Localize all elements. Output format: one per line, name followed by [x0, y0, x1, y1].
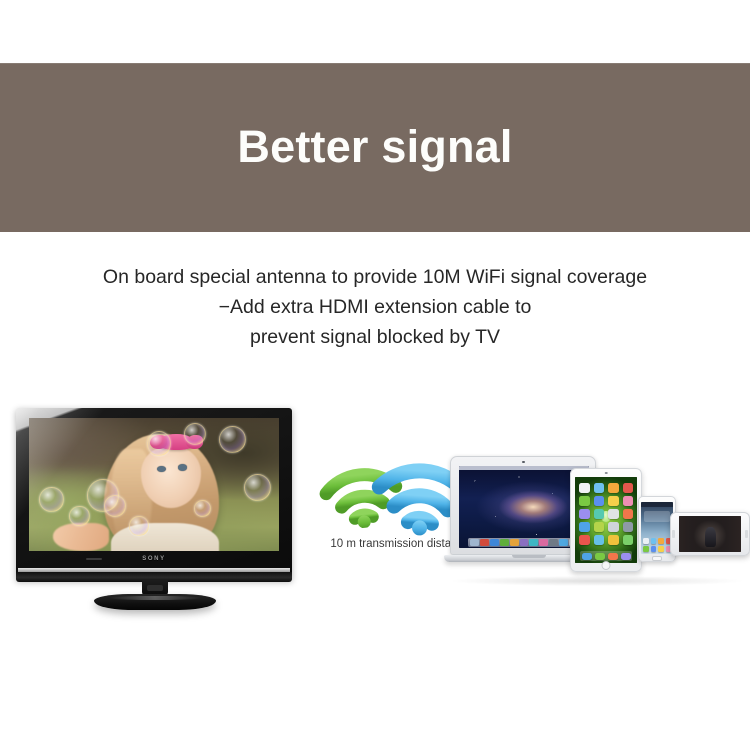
app-icon	[594, 509, 605, 519]
app-icon	[582, 553, 592, 560]
app-icon	[470, 539, 479, 546]
app-icon	[623, 522, 634, 532]
phone-clock-widget	[644, 511, 670, 521]
description-line-2: −Add extra HDMI extension cable to	[0, 292, 750, 322]
tv-screen	[29, 418, 279, 551]
app-icon	[490, 539, 499, 546]
tablet-camera-icon	[605, 472, 608, 475]
tv-bezel-bottom: SONY	[29, 553, 279, 565]
tv-brand-logo: SONY	[142, 556, 165, 562]
page-title: Better signal	[237, 124, 512, 169]
device-cluster	[442, 450, 742, 590]
app-icon	[608, 535, 619, 545]
laptop-camera-icon	[522, 461, 525, 464]
app-icon	[579, 496, 590, 506]
phone-home-button[interactable]	[652, 556, 662, 561]
tv-stand-highlight	[108, 596, 202, 600]
app-icon	[623, 483, 634, 493]
banner: Better signal	[0, 63, 750, 232]
app-icon	[594, 483, 605, 493]
app-icon	[529, 539, 538, 546]
device-shadow	[452, 576, 742, 586]
app-icon	[608, 483, 619, 493]
app-icon	[595, 553, 605, 560]
phone-app-grid	[643, 538, 671, 552]
laptop-latch-notch	[512, 555, 546, 558]
phone-landscape-device	[670, 512, 750, 556]
phone-side-button-right[interactable]	[745, 530, 748, 538]
app-icon	[510, 539, 519, 546]
app-icon	[539, 539, 548, 546]
app-icon	[658, 538, 664, 544]
laptop-dock	[468, 538, 580, 547]
app-icon	[608, 522, 619, 532]
app-icon	[594, 496, 605, 506]
app-icon	[651, 538, 657, 544]
phone-status-bar	[641, 502, 673, 507]
app-icon	[608, 496, 619, 506]
phone-portrait-screen	[641, 502, 673, 554]
product-feature-image: Better signal On board special antenna t…	[0, 0, 750, 750]
phone-side-button-left[interactable]	[672, 530, 675, 538]
phone-video-subject	[705, 527, 716, 547]
app-icon	[520, 539, 529, 546]
app-icon	[608, 553, 618, 560]
app-icon	[579, 535, 590, 545]
app-icon	[579, 522, 590, 532]
app-icon	[500, 539, 509, 546]
app-icon	[623, 509, 634, 519]
app-icon	[658, 546, 664, 552]
tablet-device	[570, 468, 642, 572]
tablet-dock	[580, 551, 632, 561]
app-icon	[549, 539, 558, 546]
tablet-screen	[575, 477, 637, 563]
app-icon	[623, 496, 634, 506]
tablet-app-grid	[579, 483, 633, 551]
app-icon	[559, 539, 568, 546]
description-line-3: prevent signal blocked by TV	[0, 322, 750, 352]
description-block: On board special antenna to provide 10M …	[0, 262, 750, 352]
illustration-stage: SONY	[0, 400, 750, 625]
television: SONY	[16, 408, 292, 620]
tv-screen-glare	[29, 418, 279, 551]
app-icon	[643, 538, 649, 544]
app-icon	[623, 535, 634, 545]
app-icon	[594, 535, 605, 545]
app-icon	[643, 546, 649, 552]
app-icon	[621, 553, 631, 560]
phone-landscape-screen	[679, 516, 741, 552]
app-icon	[579, 509, 590, 519]
app-icon	[651, 546, 657, 552]
description-line-1: On board special antenna to provide 10M …	[0, 262, 750, 292]
app-icon	[480, 539, 489, 546]
app-icon	[608, 509, 619, 519]
app-icon	[594, 522, 605, 532]
app-icon	[579, 483, 590, 493]
tablet-home-button[interactable]	[602, 561, 611, 570]
